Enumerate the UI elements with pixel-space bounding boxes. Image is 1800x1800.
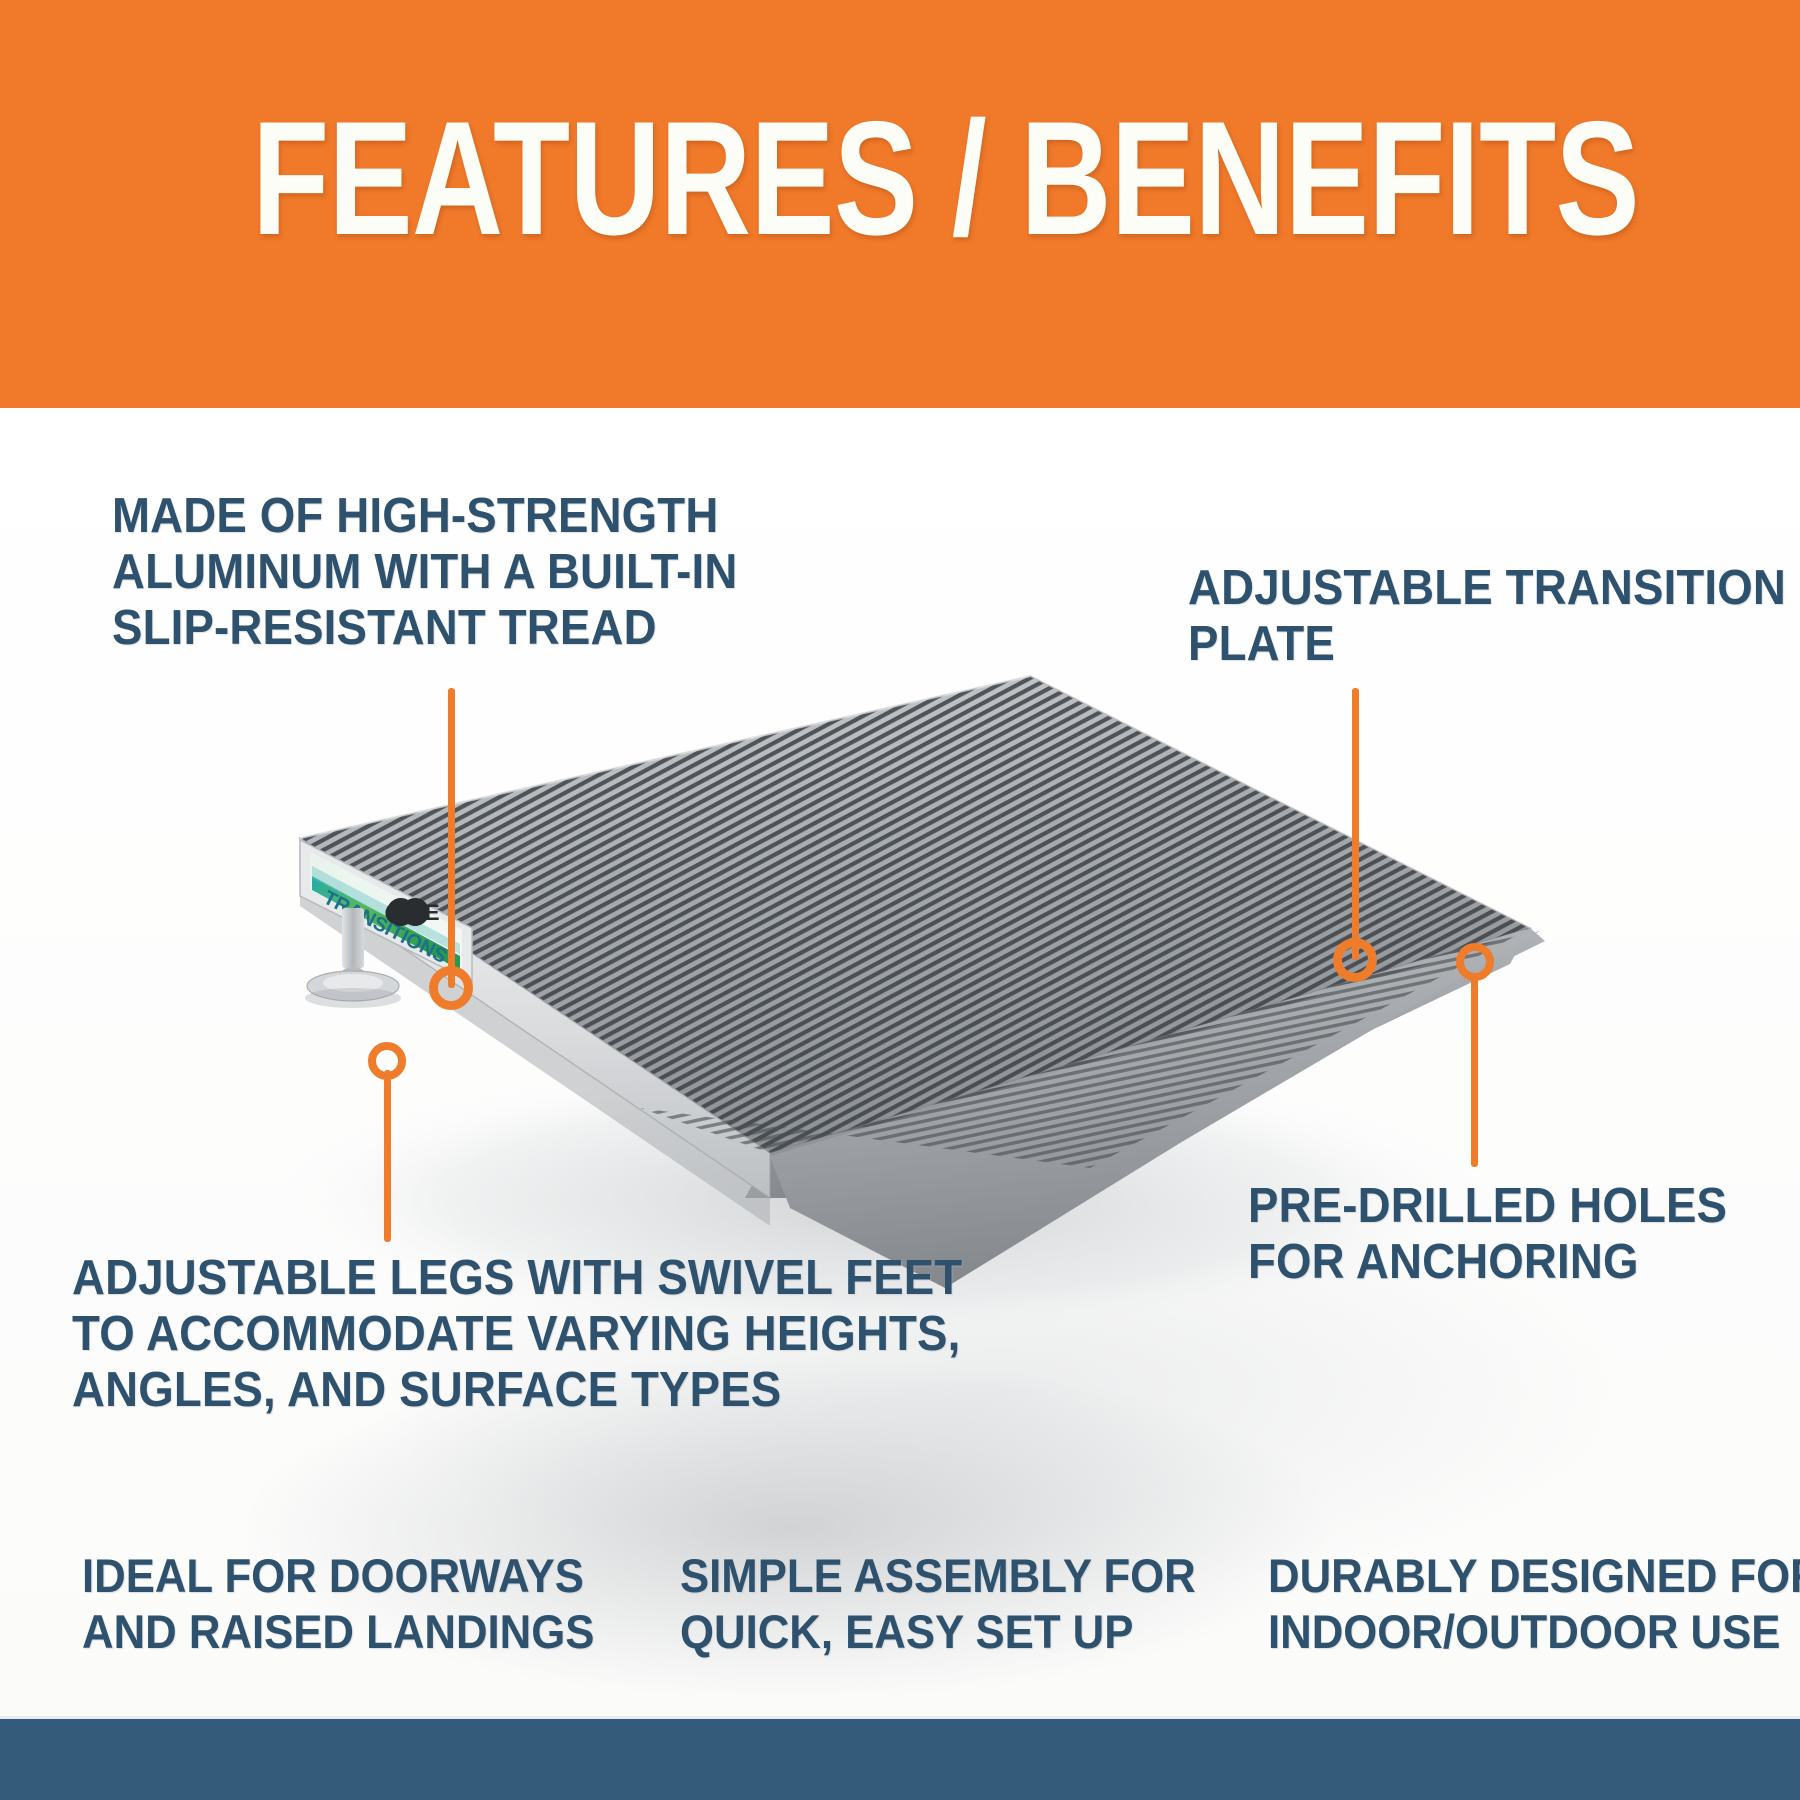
benefit-line: SIMPLE ASSEMBLY FOR (680, 1548, 1196, 1604)
callout-line: ANGLES, AND SURFACE TYPES (72, 1362, 872, 1418)
ring-marker-plate (1333, 938, 1377, 982)
callout-adjustable-legs: ADJUSTABLE LEGS WITH SWIVEL FEET TO ACCO… (72, 1250, 872, 1418)
bottom-benefits-row: IDEAL FOR DOORWAYS AND RAISED LANDINGS S… (0, 1548, 1800, 1678)
feature-benefits-infographic: FEATURES / BENEFITS (0, 0, 1800, 1800)
benefit-line: INDOOR/OUTDOOR USE (1268, 1604, 1800, 1660)
benefit-simple-assembly: SIMPLE ASSEMBLY FOR QUICK, EASY SET UP (680, 1548, 1196, 1660)
benefit-line: IDEAL FOR DOORWAYS (82, 1548, 594, 1604)
benefit-line: DURABLY DESIGNED FOR (1268, 1548, 1800, 1604)
callout-line: ADJUSTABLE TRANSITION (1188, 560, 1765, 616)
callout-transition-plate: ADJUSTABLE TRANSITION PLATE (1188, 560, 1765, 672)
page-title: FEATURES / BENEFITS (252, 104, 1266, 254)
callout-line: TO ACCOMMODATE VARYING HEIGHTS, (72, 1306, 872, 1362)
callout-slip-resistant-tread: MADE OF HIGH-STRENGTH ALUMINUM WITH A BU… (112, 488, 782, 656)
callout-line: ALUMINUM WITH A BUILT-IN (112, 544, 782, 600)
callout-line: FOR ANCHORING (1248, 1234, 1769, 1290)
callout-line: PRE-DRILLED HOLES (1248, 1178, 1769, 1234)
leader-line-holes (1471, 975, 1478, 1167)
footer-bar (0, 1716, 1800, 1800)
callout-line: SLIP-RESISTANT TREAD (112, 600, 782, 656)
benefit-indoor-outdoor: DURABLY DESIGNED FOR INDOOR/OUTDOOR USE (1268, 1548, 1800, 1660)
callout-line: MADE OF HIGH-STRENGTH (112, 488, 782, 544)
ring-marker-tread (429, 966, 473, 1010)
ce-mark: CE (385, 898, 439, 926)
benefit-ideal-for-doorways: IDEAL FOR DOORWAYS AND RAISED LANDINGS (82, 1548, 594, 1660)
svg-text:CE: CE (409, 900, 440, 925)
callout-line: ADJUSTABLE LEGS WITH SWIVEL FEET (72, 1250, 872, 1306)
benefit-line: AND RAISED LANDINGS (82, 1604, 594, 1660)
leader-line-tread (448, 688, 455, 988)
callout-line: PLATE (1188, 616, 1765, 672)
header-band: FEATURES / BENEFITS (0, 0, 1800, 408)
callout-pre-drilled-holes: PRE-DRILLED HOLES FOR ANCHORING (1248, 1178, 1769, 1290)
leader-line-legs (384, 1070, 391, 1242)
benefit-line: QUICK, EASY SET UP (680, 1604, 1196, 1660)
leader-line-plate (1352, 688, 1359, 960)
